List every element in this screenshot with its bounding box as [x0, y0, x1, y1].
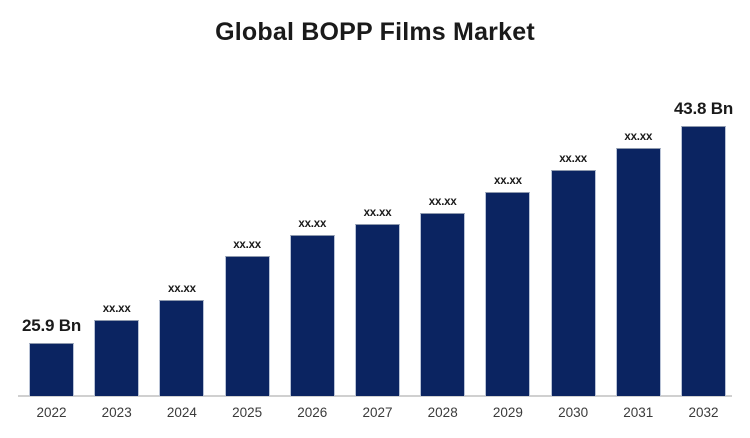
bar-group: xx.xx2031 — [616, 148, 661, 396]
bar[interactable] — [159, 300, 204, 396]
bar-value-label: xx.xx — [494, 175, 522, 187]
bar-value-label: xx.xx — [429, 196, 457, 208]
bar-group: xx.xx2029 — [485, 192, 530, 396]
bar-group: xx.xx2027 — [355, 224, 400, 396]
bar-value-label: xx.xx — [298, 218, 326, 230]
x-axis-tick-label: 2028 — [428, 405, 458, 420]
x-axis-tick-label: 2022 — [36, 405, 66, 420]
x-axis-tick-label: 2026 — [297, 405, 327, 420]
bar-group: xx.xx2026 — [290, 235, 335, 396]
bar-group: xx.xx2025 — [225, 256, 270, 396]
bar-group: xx.xx2030 — [551, 170, 596, 396]
bar[interactable] — [290, 235, 335, 396]
bar[interactable] — [485, 192, 530, 396]
x-axis-tick-label: 2029 — [493, 405, 523, 420]
bar-value-label: xx.xx — [233, 239, 261, 251]
bar[interactable] — [681, 126, 726, 396]
bar-group: xx.xx2024 — [159, 300, 204, 396]
bar[interactable] — [94, 320, 139, 396]
bar[interactable] — [355, 224, 400, 396]
bar[interactable] — [616, 148, 661, 396]
bar-group: 43.8 Bn2032 — [681, 126, 726, 396]
bar[interactable] — [29, 343, 74, 396]
x-axis-tick-label: 2023 — [102, 405, 132, 420]
bar[interactable] — [420, 213, 465, 396]
x-axis-tick-label: 2032 — [688, 405, 718, 420]
x-axis-tick-label: 2030 — [558, 405, 588, 420]
x-axis-tick-label: 2031 — [623, 405, 653, 420]
bar-value-label: xx.xx — [364, 207, 392, 219]
bar[interactable] — [225, 256, 270, 396]
bar-value-label: xx.xx — [168, 283, 196, 295]
x-axis-tick-label: 2025 — [232, 405, 262, 420]
bar-group: xx.xx2028 — [420, 213, 465, 396]
x-axis-tick-label: 2027 — [362, 405, 392, 420]
bar-group: 25.9 Bn2022 — [29, 343, 74, 396]
bar-value-label: xx.xx — [103, 303, 131, 315]
bar[interactable] — [551, 170, 596, 396]
bar-value-label: xx.xx — [624, 131, 652, 143]
bar-chart: Global BOPP Films Market 25.9 Bn2022xx.x… — [0, 0, 750, 438]
bar-value-label: 43.8 Bn — [674, 99, 733, 119]
bar-value-label: xx.xx — [559, 153, 587, 165]
bar-value-label: 25.9 Bn — [22, 316, 81, 336]
x-axis-tick-label: 2024 — [167, 405, 197, 420]
plot-area: 25.9 Bn2022xx.xx2023xx.xx2024xx.xx2025xx… — [0, 0, 750, 438]
bar-group: xx.xx2023 — [94, 320, 139, 396]
